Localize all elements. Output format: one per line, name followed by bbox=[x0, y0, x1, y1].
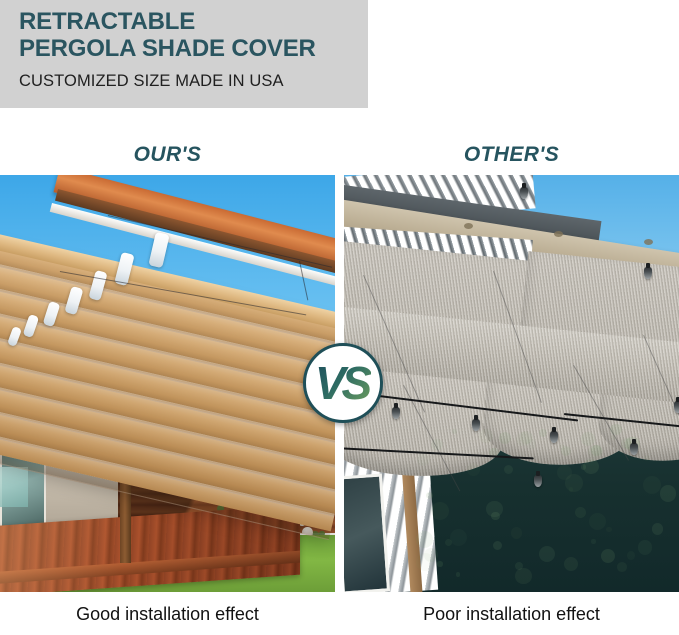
shaded-foliage bbox=[424, 548, 438, 562]
shaded-foliage bbox=[516, 432, 530, 446]
shaded-foliage bbox=[557, 465, 572, 480]
wood-knot bbox=[644, 239, 653, 245]
versus-badge: VS bbox=[303, 343, 383, 423]
wood-knot bbox=[464, 223, 473, 229]
string-light-bulb bbox=[644, 267, 652, 279]
shaded-foliage bbox=[467, 463, 480, 476]
shaded-foliage bbox=[486, 501, 502, 517]
shaded-foliage bbox=[456, 572, 461, 577]
column-heading-ours: OUR'S bbox=[0, 143, 335, 167]
column-heading-others: OTHER'S bbox=[344, 143, 679, 167]
shaded-foliage bbox=[606, 527, 611, 532]
shaded-foliage bbox=[437, 561, 442, 566]
string-light-bulb bbox=[550, 431, 558, 443]
shaded-foliage bbox=[504, 465, 513, 474]
product-title-line-1: RETRACTABLE bbox=[19, 8, 195, 35]
shaded-foliage bbox=[638, 540, 652, 554]
shaded-foliage bbox=[591, 539, 596, 544]
shaded-foliage bbox=[627, 551, 636, 560]
photo-ours-good-installation bbox=[0, 175, 335, 592]
shaded-foliage bbox=[652, 523, 664, 535]
shaded-foliage bbox=[589, 513, 607, 531]
shaded-foliage bbox=[479, 429, 493, 443]
product-subtitle: CUSTOMIZED SIZE MADE IN USA bbox=[19, 72, 284, 91]
caption-poor-installation: Poor installation effect bbox=[344, 604, 679, 625]
string-light-bulb bbox=[534, 475, 542, 487]
string-light-bulb bbox=[674, 401, 679, 413]
shaded-foliage bbox=[515, 568, 531, 584]
string-light-bulb bbox=[630, 443, 638, 455]
product-title: RETRACTABLE PERGOLA SHADE COVER bbox=[19, 8, 364, 62]
shaded-foliage bbox=[601, 549, 615, 563]
shaded-foliage bbox=[591, 445, 602, 456]
caption-good-installation: Good installation effect bbox=[0, 604, 335, 625]
shaded-foliage bbox=[417, 453, 430, 466]
photo-others-scene bbox=[344, 175, 679, 592]
door-glass-reflection bbox=[0, 467, 28, 507]
shaded-foliage bbox=[660, 485, 676, 501]
versus-label: VS bbox=[315, 360, 371, 406]
product-title-line-2: PERGOLA SHADE COVER bbox=[19, 35, 316, 62]
shaded-foliage bbox=[581, 464, 587, 470]
wood-knot bbox=[554, 231, 563, 237]
string-light-bulb bbox=[520, 187, 528, 199]
photo-others-poor-installation bbox=[344, 175, 679, 592]
shaded-foliage bbox=[431, 439, 443, 451]
string-light-bulb bbox=[472, 419, 480, 431]
string-light-bulb bbox=[392, 407, 400, 419]
photo-ours-scene bbox=[0, 175, 335, 592]
header-banner: RETRACTABLE PERGOLA SHADE COVER CUSTOMIZ… bbox=[0, 0, 368, 108]
shaded-foliage bbox=[617, 562, 627, 572]
shaded-foliage bbox=[511, 527, 522, 538]
